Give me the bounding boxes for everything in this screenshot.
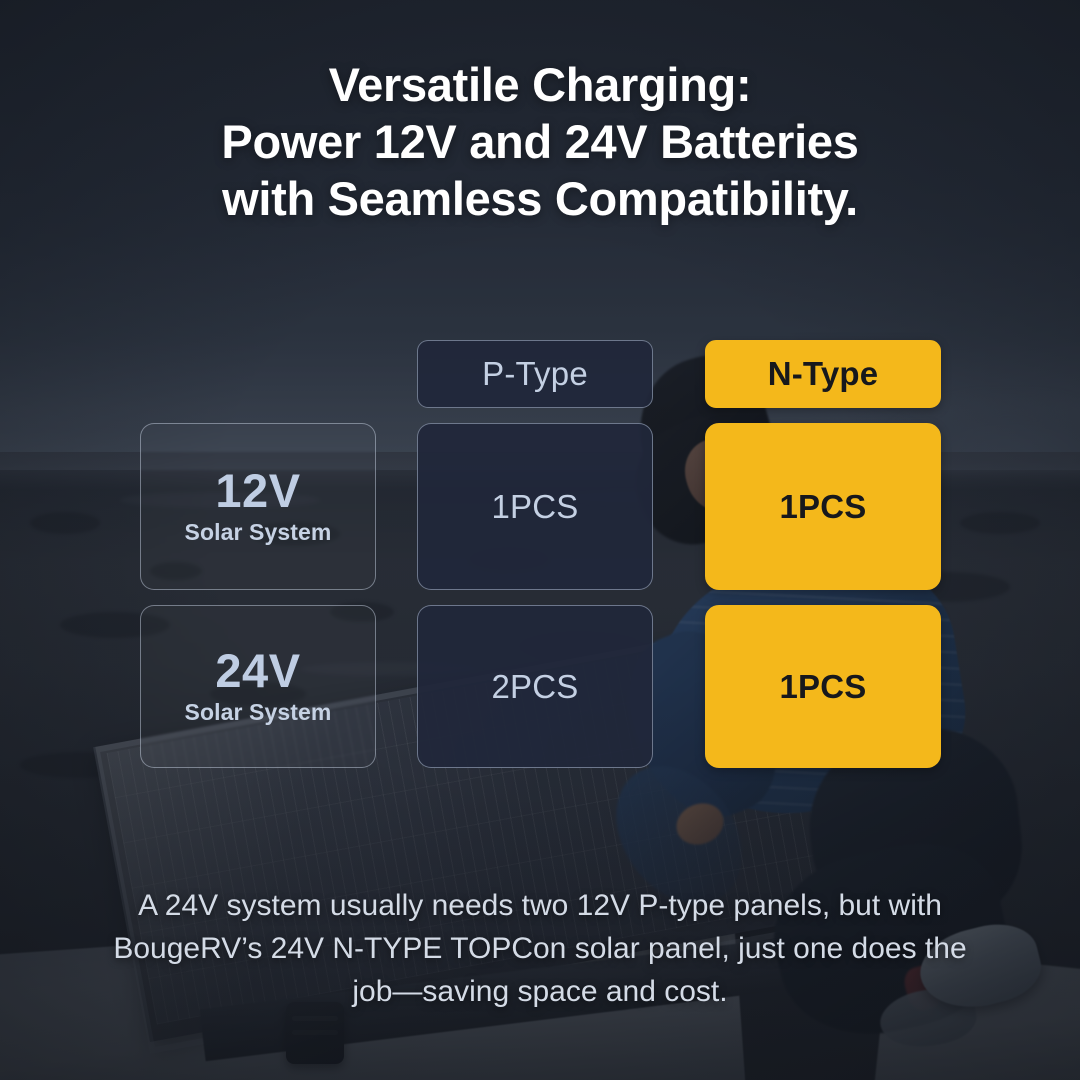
column-header-n-type-label: N-Type	[768, 355, 879, 393]
row-label-12v-subtitle: Solar System	[185, 519, 332, 546]
row-label-12v: 12V Solar System	[140, 423, 376, 590]
headline: Versatile Charging: Power 12V and 24V Ba…	[0, 56, 1080, 227]
comparison-table: P-Type N-Type 12V Solar System 1PCS 1PCS…	[140, 340, 940, 770]
column-header-n-type: N-Type	[705, 340, 941, 408]
caption-line-3: job—saving space and cost.	[60, 970, 1020, 1013]
caption-line-2: BougeRV’s 24V N-TYPE TOPCon solar panel,…	[60, 927, 1020, 970]
caption: A 24V system usually needs two 12V P-typ…	[60, 884, 1020, 1013]
headline-line-2: Power 12V and 24V Batteries	[0, 113, 1080, 170]
cell-24v-n-type-value: 1PCS	[779, 668, 866, 706]
column-header-p-type: P-Type	[417, 340, 653, 408]
headline-line-1: Versatile Charging:	[0, 56, 1080, 113]
headline-line-3: with Seamless Compatibility.	[0, 170, 1080, 227]
caption-line-1: A 24V system usually needs two 12V P-typ…	[60, 884, 1020, 927]
content-layer: Versatile Charging: Power 12V and 24V Ba…	[0, 0, 1080, 1080]
cell-12v-p-type: 1PCS	[417, 423, 653, 590]
row-label-24v-subtitle: Solar System	[185, 699, 332, 726]
cell-24v-p-type-value: 2PCS	[491, 668, 578, 706]
column-header-p-type-label: P-Type	[482, 355, 588, 393]
infographic-canvas: Versatile Charging: Power 12V and 24V Ba…	[0, 0, 1080, 1080]
cell-12v-n-type-value: 1PCS	[779, 488, 866, 526]
cell-12v-p-type-value: 1PCS	[491, 488, 578, 526]
cell-12v-n-type: 1PCS	[705, 423, 941, 590]
row-label-12v-value: 12V	[215, 467, 300, 516]
row-label-24v: 24V Solar System	[140, 605, 376, 768]
cell-24v-p-type: 2PCS	[417, 605, 653, 768]
cell-24v-n-type: 1PCS	[705, 605, 941, 768]
row-label-24v-value: 24V	[215, 647, 300, 696]
